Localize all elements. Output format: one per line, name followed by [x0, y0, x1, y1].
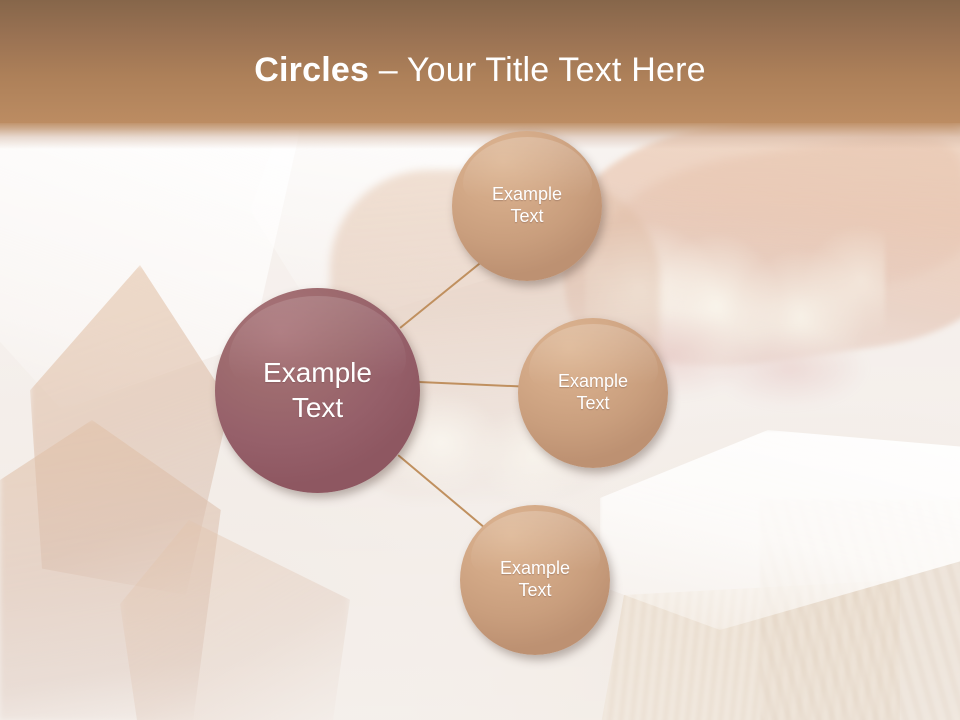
circle-node-top[interactable]: ExampleText: [452, 131, 602, 281]
circle-node-bottom-label-line2: Text: [518, 580, 551, 600]
circle-node-right-label-line2: Text: [576, 393, 609, 413]
circle-node-hub-label: ExampleText: [253, 356, 382, 424]
circle-node-bottom-label-line1: Example: [500, 558, 570, 578]
circle-node-top-label-line2: Text: [510, 206, 543, 226]
circle-node-hub[interactable]: ExampleText: [215, 288, 420, 493]
circles-diagram: ExampleText ExampleText ExampleText Exam…: [0, 0, 960, 720]
circle-node-hub-label-line2: Text: [292, 392, 343, 423]
slide-canvas: Circles – Your Title Text Here ExampleTe…: [0, 0, 960, 720]
circle-node-right-label: ExampleText: [548, 371, 638, 415]
circle-node-hub-label-line1: Example: [263, 357, 372, 388]
circle-node-right-label-line1: Example: [558, 371, 628, 391]
circle-node-bottom[interactable]: ExampleText: [460, 505, 610, 655]
circle-node-top-label-line1: Example: [492, 184, 562, 204]
circle-node-right[interactable]: ExampleText: [518, 318, 668, 468]
circle-node-bottom-label: ExampleText: [490, 558, 580, 602]
circle-node-top-label: ExampleText: [482, 184, 572, 228]
